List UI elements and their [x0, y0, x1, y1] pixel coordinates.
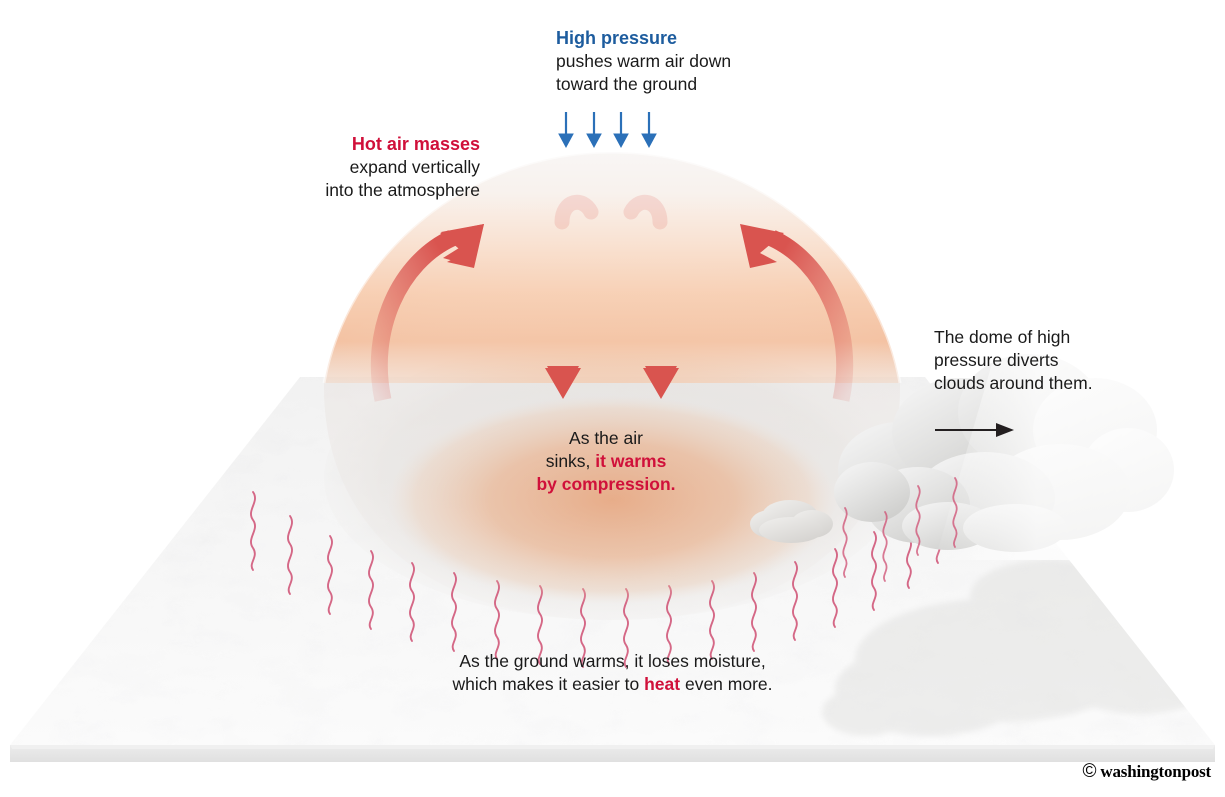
- sinking-air-line2-plain: sinks,: [546, 451, 596, 471]
- cloud-line2: pressure diverts: [934, 350, 1059, 370]
- label-high-pressure: High pressure pushes warm air down towar…: [556, 27, 786, 96]
- high-pressure-line2: toward the ground: [556, 74, 697, 94]
- label-sinking-air: As the air sinks, it warms by compressio…: [486, 427, 726, 495]
- washingtonpost-credit: © washingtonpost: [1083, 761, 1211, 783]
- cloud-line1: The dome of high: [934, 327, 1070, 347]
- label-hot-air-masses: Hot air masses expand vertically into th…: [240, 133, 480, 202]
- sinking-air-line1: As the air: [569, 428, 643, 448]
- label-cloud-diversion: The dome of high pressure diverts clouds…: [934, 326, 1134, 394]
- ground-line1: As the ground warms, it loses moisture,: [459, 651, 765, 671]
- infographic-canvas: High pressure pushes warm air down towar…: [0, 0, 1225, 797]
- ground-line2-post: even more.: [680, 674, 772, 694]
- sinking-air-line3-accent: by compression.: [536, 474, 675, 494]
- high-pressure-heading: High pressure: [556, 27, 786, 50]
- hot-air-heading: Hot air masses: [240, 133, 480, 156]
- label-ground-warming: As the ground warms, it loses moisture, …: [370, 650, 855, 696]
- hot-air-line2: into the atmosphere: [325, 180, 480, 200]
- sinking-air-line2-accent: it warms: [595, 451, 666, 471]
- high-pressure-arrows: [559, 112, 656, 147]
- ground-line2-pre: which makes it easier to: [453, 674, 645, 694]
- credit-text: washingtonpost: [1100, 762, 1211, 781]
- hot-air-line1: expand vertically: [350, 157, 480, 177]
- high-pressure-line1: pushes warm air down: [556, 51, 731, 71]
- ground-line2-accent: heat: [644, 674, 680, 694]
- cloud-line3: clouds around them.: [934, 373, 1093, 393]
- copyright-icon: ©: [1083, 761, 1097, 782]
